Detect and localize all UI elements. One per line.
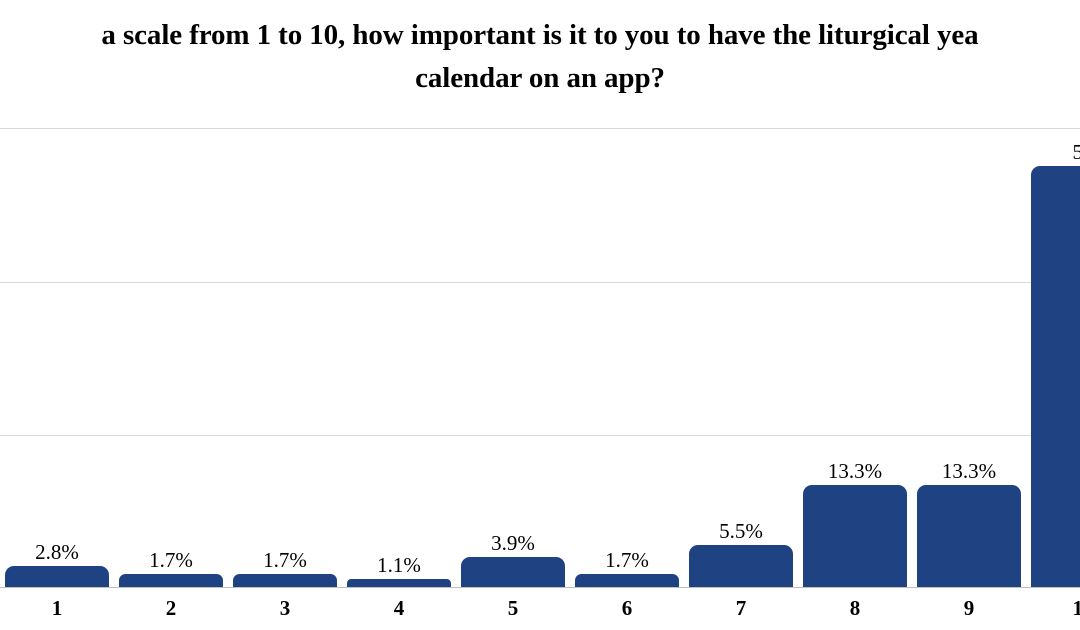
bar[interactable] — [803, 485, 907, 587]
bar[interactable] — [917, 485, 1021, 587]
bar-group: 1.7% — [119, 574, 223, 587]
bar-group: 3.9% — [461, 557, 565, 587]
x-axis-label: 7 — [736, 595, 747, 621]
bar-group: 13.3% — [917, 485, 1021, 587]
bar[interactable] — [575, 574, 679, 587]
bar-value-label: 1.7% — [263, 548, 307, 572]
chart-canvas: a scale from 1 to 10, how important is i… — [0, 0, 1080, 630]
x-axis-labels: 12345678910 — [0, 595, 1080, 630]
bar-group: 1.7% — [575, 574, 679, 587]
bar-value-label: 13.3% — [828, 459, 882, 483]
bar-group: 1.7% — [233, 574, 337, 587]
bar-value-label: 3.9% — [491, 531, 535, 555]
bar-value-label: 13.3% — [942, 459, 996, 483]
bar-group: 5.5% — [689, 545, 793, 587]
bars-layer: 2.8%1.7%1.7%1.1%3.9%1.7%5.5%13.3%13.3%55 — [0, 0, 1080, 630]
bar-value-label: 2.8% — [35, 540, 79, 564]
bar-value-label: 1.1% — [377, 553, 421, 577]
x-axis-label: 8 — [850, 595, 861, 621]
bar[interactable] — [347, 579, 451, 587]
bar[interactable] — [233, 574, 337, 587]
x-axis-label: 1 — [52, 595, 63, 621]
bar-group: 13.3% — [803, 485, 907, 587]
bar-value-label: 1.7% — [149, 548, 193, 572]
bar[interactable] — [1031, 166, 1080, 587]
x-axis-label: 9 — [964, 595, 975, 621]
bar-value-label: 55 — [1073, 140, 1080, 164]
x-axis-label: 5 — [508, 595, 519, 621]
x-axis-label: 2 — [166, 595, 177, 621]
bar-value-label: 1.7% — [605, 548, 649, 572]
x-axis-label: 6 — [622, 595, 633, 621]
x-axis-label: 4 — [394, 595, 405, 621]
bar[interactable] — [5, 566, 109, 587]
x-axis-label: 10 — [1073, 595, 1080, 621]
x-axis-label: 3 — [280, 595, 291, 621]
bar-value-label: 5.5% — [719, 519, 763, 543]
bar[interactable] — [689, 545, 793, 587]
bar-group: 2.8% — [5, 566, 109, 587]
bar[interactable] — [119, 574, 223, 587]
bar[interactable] — [461, 557, 565, 587]
bar-group: 1.1% — [347, 579, 451, 587]
bar-group: 55 — [1031, 166, 1080, 587]
